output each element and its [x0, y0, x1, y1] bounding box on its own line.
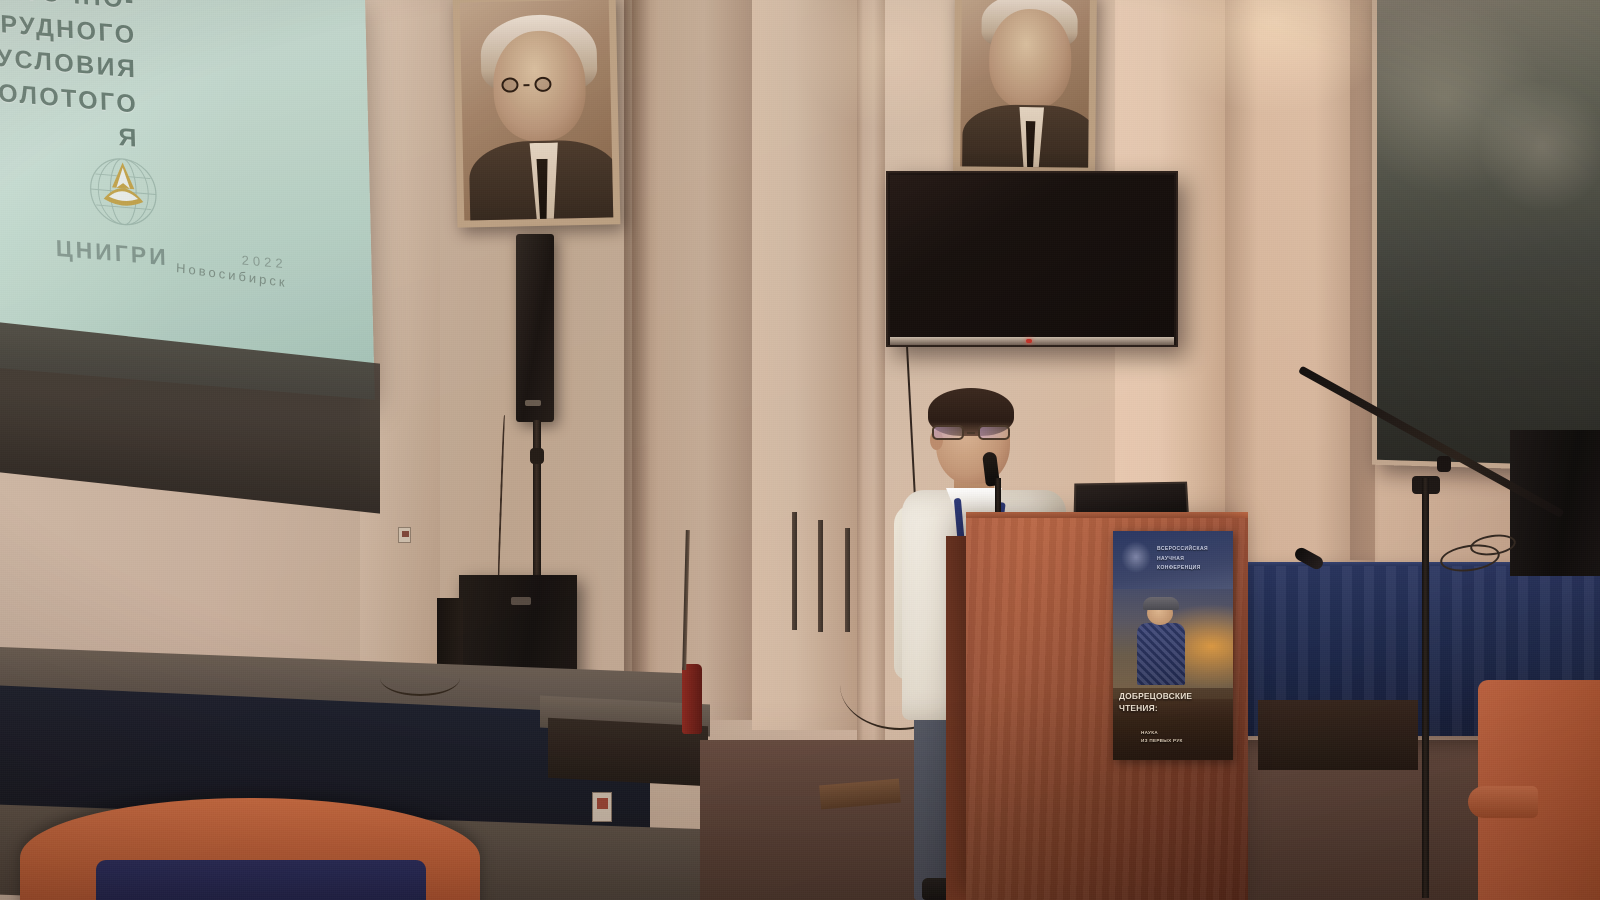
portrait-right-face	[989, 9, 1072, 110]
poster-title-text: ДОБРЕЦОВСКИЕ ЧТЕНИЯ:	[1119, 690, 1231, 714]
vertical-rod-c	[845, 528, 850, 632]
conference-poster: ВСЕРОССИЙСКАЯ НАУЧНАЯ КОНФЕРЕНЦИЯ ДОБРЕЦ…	[1113, 531, 1233, 760]
vertical-rod-b	[818, 520, 823, 632]
slide-city: Новосибирск	[176, 260, 288, 290]
poster-geologist-body	[1137, 623, 1185, 685]
slide-title-line-1: НИЯ ВОСТОЧНО-	[0, 0, 136, 18]
poster-subtitle-line-1: НАУКА	[1141, 729, 1233, 738]
tv-standby-led-icon	[1026, 339, 1032, 343]
cnigri-globe-star-logo	[79, 147, 167, 240]
wall-painting	[1372, 0, 1600, 471]
boom-mic-top-knob[interactable]	[1437, 456, 1451, 472]
poster-emblem-icon	[1121, 541, 1151, 573]
poster-banner-text: ВСЕРОССИЙСКАЯ НАУЧНАЯ КОНФЕРЕНЦИЯ	[1157, 545, 1229, 574]
slide-year: 2022	[242, 252, 287, 271]
portrait-left-image	[460, 0, 614, 221]
electrical-outlet-icon[interactable]	[398, 527, 411, 543]
slide-title-text: НИЯ ВОСТОЧНО- КОГО РУДНОГО ВА) И УСЛОВИЯ…	[0, 0, 139, 156]
foreground-chair-seat[interactable]	[96, 860, 426, 900]
tv-screen	[890, 175, 1174, 337]
mic-stand-pole	[1422, 478, 1429, 898]
portrait-left-glasses-icon	[501, 77, 551, 93]
slide-title-line-2: КОГО РУДНОГО	[0, 0, 137, 53]
stage-power-switch[interactable]	[592, 792, 612, 822]
poster-banner-line-1: ВСЕРОССИЙСКАЯ	[1157, 545, 1229, 555]
poster-subtitle-line-2: ИЗ ПЕРВЫХ РУК	[1141, 737, 1233, 746]
portrait-right-image	[960, 0, 1090, 168]
poster-photo-area	[1113, 589, 1233, 699]
wall-corner-shadow	[624, 0, 650, 740]
wall-mounted-tv[interactable]	[886, 171, 1178, 347]
black-equipment-box	[1510, 430, 1600, 576]
poster-geologist-cap	[1143, 597, 1179, 610]
floor-speaker-right	[1258, 700, 1418, 770]
cnigri-label: ЦНИГРИ	[56, 235, 169, 272]
presenter-eyeglasses-icon	[932, 424, 1016, 441]
floor-cable-b	[380, 660, 460, 696]
portrait-left-frame	[453, 0, 621, 228]
vertical-rod-a	[792, 512, 797, 630]
pa-speaker-pole	[533, 420, 541, 585]
wall-pilaster-a	[632, 0, 752, 720]
slide-title-line-3: ВА) И УСЛОВИЯ	[0, 5, 138, 87]
portrait-right-frame	[953, 0, 1097, 175]
fire-extinguisher-icon	[682, 664, 702, 734]
poster-subtitle-text: НАУКА ИЗ ПЕРВЫХ РУК	[1141, 729, 1233, 746]
wall-pilaster-b	[752, 0, 857, 730]
conference-hall-photo: НИЯ ВОСТОЧНО- КОГО РУДНОГО ВА) И УСЛОВИЯ…	[0, 0, 1600, 900]
poster-banner-line-2: НАУЧНАЯ КОНФЕРЕНЦИЯ	[1157, 555, 1229, 574]
slide-title-line-4: АНИЯ ЗОЛОТОГО	[0, 40, 139, 122]
slide-title-line-5: Я	[0, 75, 139, 157]
right-chair-armrest	[1468, 786, 1538, 818]
pa-pole-adjust-knob[interactable]	[530, 448, 544, 464]
pa-column-speaker	[516, 234, 554, 422]
